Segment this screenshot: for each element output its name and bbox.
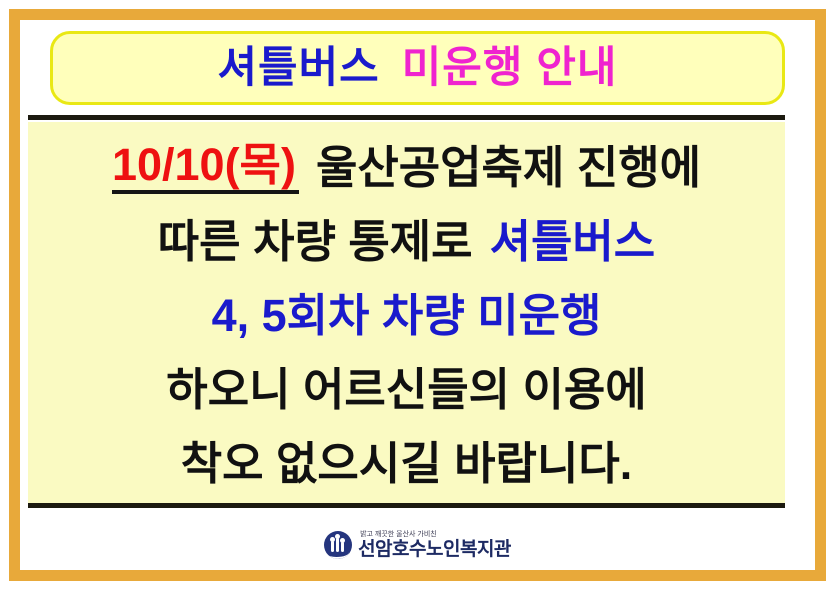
title-line: 셔틀버스미운행 안내: [218, 47, 618, 90]
notice-line-2-highlight: 셔틀버스: [490, 219, 656, 264]
notice-line-2: 따른 차량 통제로셔틀버스: [158, 205, 655, 279]
organization-logo: 밝고 깨끗한 울산사 가비친 선암호수노인복지관: [324, 531, 511, 559]
notice-line-3: 4, 5회차 차량 미운행: [212, 279, 602, 353]
notice-date: 10/10(목): [112, 142, 299, 194]
title-divider-rule: [28, 115, 785, 120]
notice-line-2-text: 따른 차량 통제로: [158, 219, 473, 264]
notice-line-1-text: 울산공업축제 진행에: [316, 145, 701, 190]
title-part-predicate: 미운행 안내: [402, 44, 618, 92]
notice-body: 10/10(목)울산공업축제 진행에 따른 차량 통제로셔틀버스 4, 5회차 …: [28, 122, 785, 505]
logo-text-group: 밝고 깨끗한 울산사 가비친 선암호수노인복지관: [358, 531, 511, 559]
notice-line-5: 착오 없으시길 바랍니다.: [181, 427, 633, 501]
logo-slogan: 밝고 깨끗한 울산사 가비친: [360, 531, 511, 538]
notice-line-4-text: 하오니 어르신들의 이용에: [166, 367, 646, 412]
logo-swoosh: [328, 548, 349, 559]
people-circle-logo-icon: [324, 531, 352, 559]
notice-line-5-text: 착오 없으시길 바랍니다.: [181, 441, 633, 486]
title-banner: 셔틀버스미운행 안내: [50, 31, 785, 105]
notice-poster: 셔틀버스미운행 안내 10/10(목)울산공업축제 진행에 따른 차량 통제로셔…: [0, 0, 835, 590]
notice-line-4: 하오니 어르신들의 이용에: [166, 353, 646, 427]
notice-line-3-text: 4, 5회차 차량 미운행: [212, 293, 602, 338]
notice-line-1: 10/10(목)울산공업축제 진행에: [112, 131, 701, 205]
poster-footer: 밝고 깨끗한 울산사 가비친 선암호수노인복지관: [0, 522, 835, 568]
title-part-subject: 셔틀버스: [218, 44, 380, 92]
body-divider-rule: [28, 503, 785, 508]
organization-name: 선암호수노인복지관: [358, 540, 511, 559]
